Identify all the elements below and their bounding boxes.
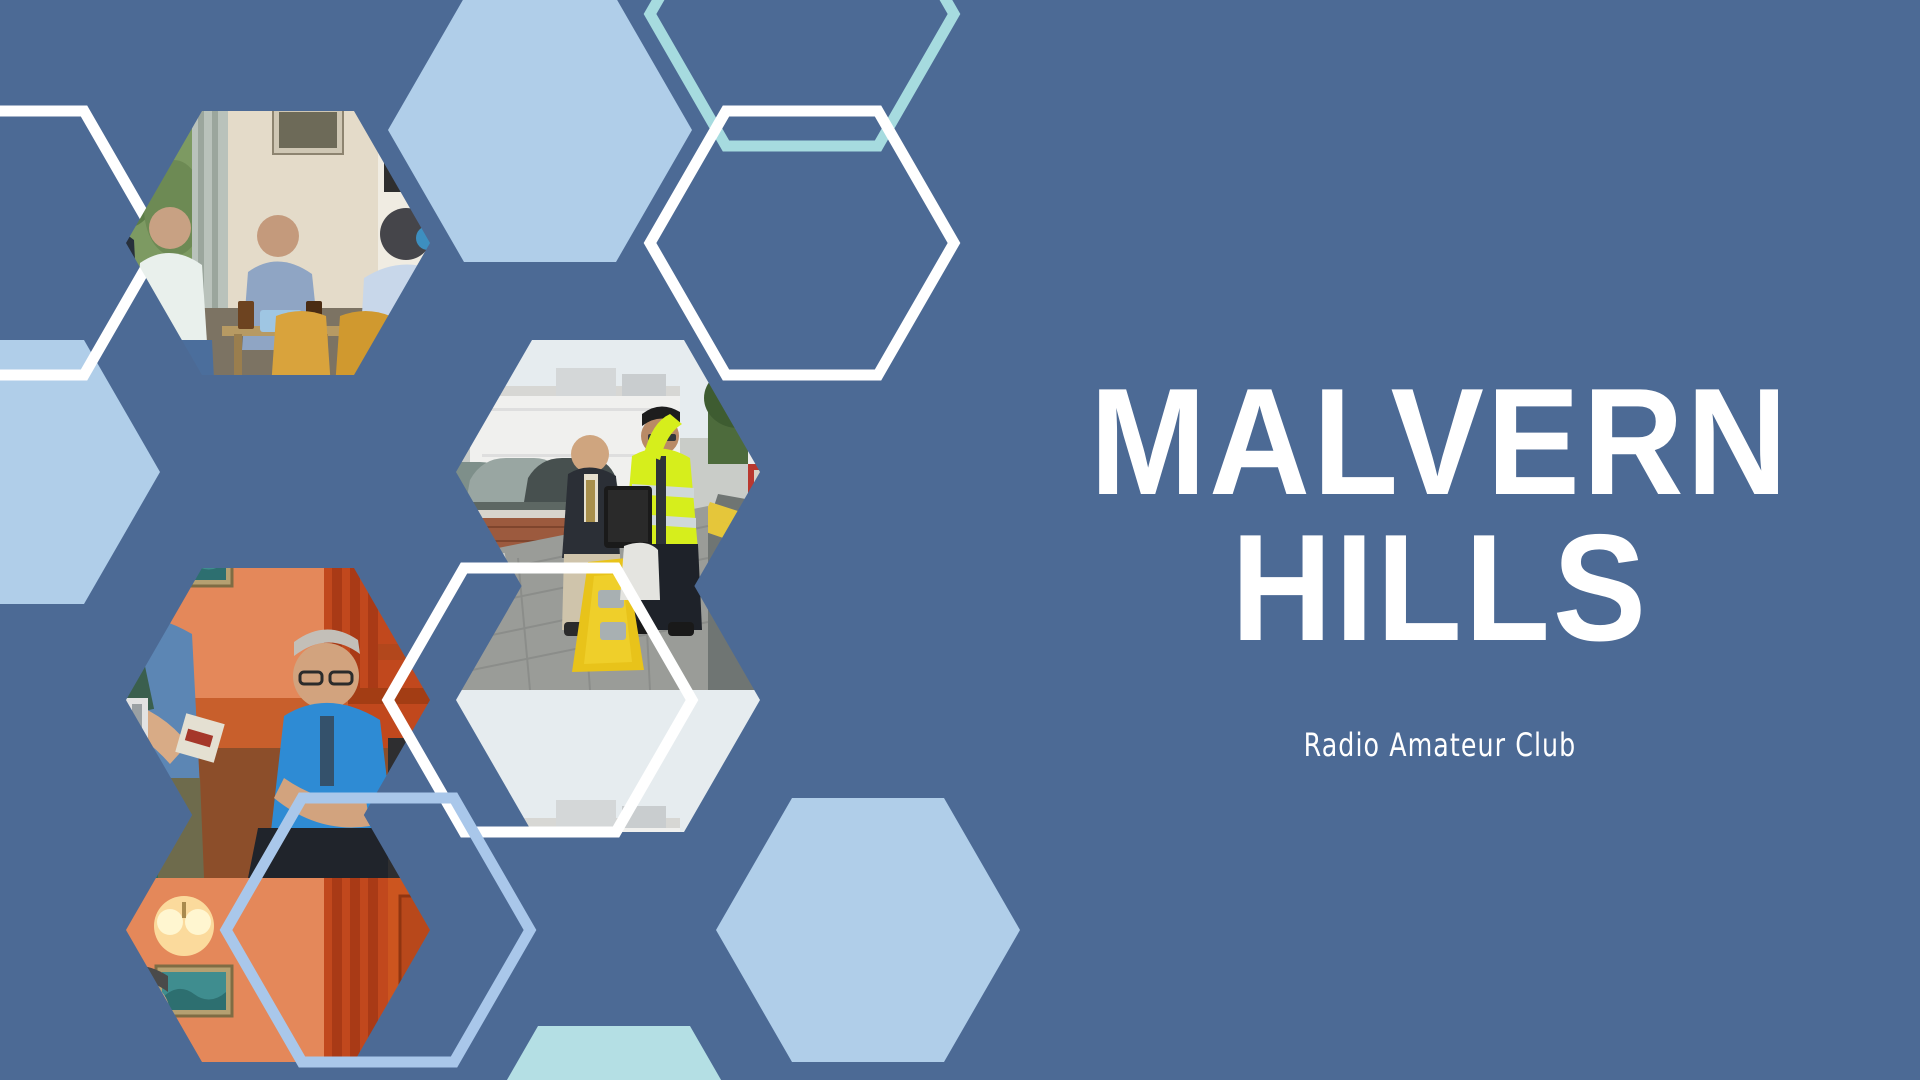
slide-canvas: MALVERN HILLS Radio Amateur Club [0, 0, 1920, 1080]
page-title-line-2: HILLS [1054, 516, 1827, 662]
page-title-line-1: MALVERN [1054, 370, 1827, 516]
title-block: MALVERN HILLS Radio Amateur Club [1020, 370, 1860, 764]
page-subtitle: Radio Amateur Club [1070, 726, 1809, 764]
